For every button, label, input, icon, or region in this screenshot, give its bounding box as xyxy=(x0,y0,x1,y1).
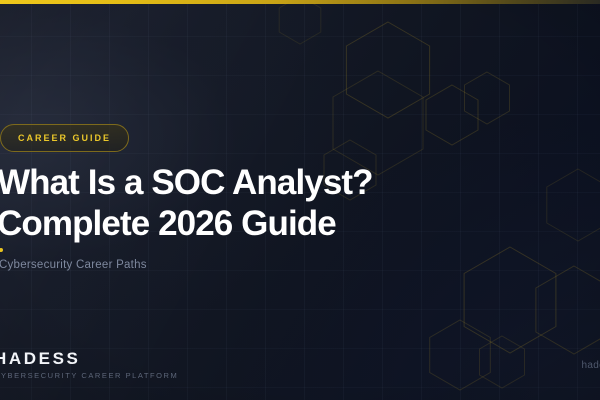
page-title: What Is a SOC Analyst? Complete 2026 Gui… xyxy=(0,162,597,244)
breadcrumb-label[interactable]: Cybersecurity Career Paths xyxy=(0,259,147,271)
brand-lockup: HADESS CYBERSECURITY CAREER PLATFORM xyxy=(0,350,178,381)
brand-name: HADESS xyxy=(0,350,178,368)
breadcrumb[interactable]: Cybersecurity Career Paths xyxy=(0,259,147,271)
career-guide-badge: CAREER GUIDE xyxy=(0,124,129,152)
page-title-line-2: Complete 2026 Guide xyxy=(0,203,597,244)
brand-tagline: CYBERSECURITY CAREER PLATFORM xyxy=(0,371,178,381)
hero-content: CAREER GUIDE What Is a SOC Analyst? Comp… xyxy=(0,0,600,400)
site-url-label: hadess.io xyxy=(581,360,600,371)
breadcrumb-bullet-icon xyxy=(0,248,3,252)
career-guide-hero-page: CAREER GUIDE What Is a SOC Analyst? Comp… xyxy=(0,0,600,400)
page-title-line-1: What Is a SOC Analyst? xyxy=(0,163,373,202)
